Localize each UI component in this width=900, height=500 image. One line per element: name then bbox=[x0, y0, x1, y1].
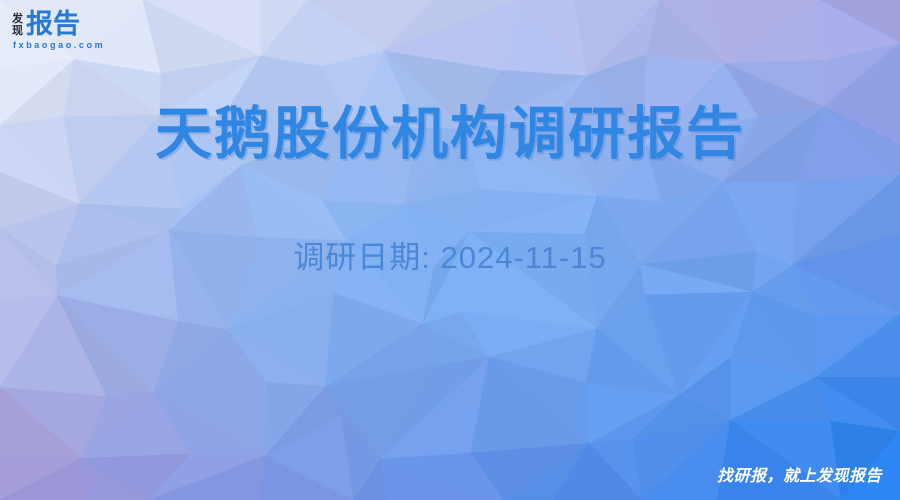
brand-logo-char-top: 发 bbox=[12, 13, 23, 25]
brand-slogan: 找研报，就上发现报告 bbox=[717, 462, 882, 486]
brand-logo-wordmark: 报告 bbox=[26, 10, 80, 38]
report-cover: 发 现 报告 fxbaogao.com 天鹅股份机构调研报告 调研日期: 202… bbox=[0, 0, 900, 500]
brand-logo-stacked-chars: 发 现 bbox=[12, 11, 23, 37]
survey-date-subtitle: 调研日期: 2024-11-15 bbox=[0, 232, 900, 277]
page-title: 天鹅股份机构调研报告 bbox=[0, 88, 900, 170]
brand-logo-row: 发 现 报告 bbox=[12, 10, 80, 38]
brand-logo-char-bottom: 现 bbox=[12, 25, 23, 37]
brand-logo[interactable]: 发 现 报告 fxbaogao.com bbox=[12, 10, 105, 50]
brand-logo-domain: fxbaogao.com bbox=[13, 40, 105, 50]
